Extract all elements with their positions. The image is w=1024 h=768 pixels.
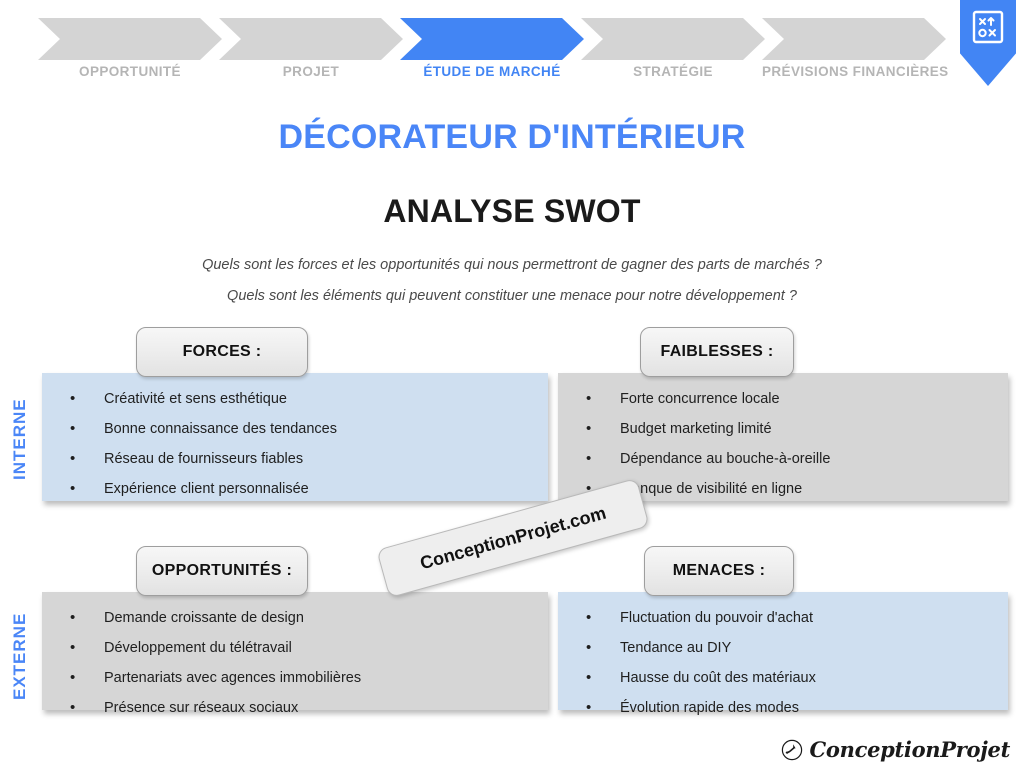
quadrant-opportunites: Demande croissante de design Développeme… [42,592,548,710]
process-step-projet[interactable]: PROJET [219,18,403,60]
footer-brand: ConceptionProjet [781,737,1011,762]
quadrant-forces: Créativité et sens esthétique Bonne conn… [42,373,548,501]
stage-pin-marker [960,0,1016,92]
process-step-label: ÉTUDE DE MARCHÉ [400,64,584,79]
process-step-label: PRÉVISIONS FINANCIÈRES [762,64,946,79]
guiding-question-2: Quels sont les éléments qui peuvent cons… [0,288,1024,304]
list-item: Dépendance au bouche-à-oreille [558,449,1008,470]
list-item: Développement du télétravail [42,638,548,659]
page-title: DÉCORATEUR D'INTÉRIEUR [0,118,1024,157]
process-step-label: OPPORTUNITÉ [38,64,222,79]
list-item: Fluctuation du pouvoir d'achat [558,608,1008,629]
quadrant-menaces: Fluctuation du pouvoir d'achat Tendance … [558,592,1008,710]
axis-label-interne: INTERNE [10,383,30,495]
guiding-question-1: Quels sont les forces et les opportunité… [0,257,1024,273]
list-item: Réseau de fournisseurs fiables [42,449,548,470]
list-item: Évolution rapide des modes [558,698,1008,719]
process-step-label: STRATÉGIE [581,64,765,79]
list-item: Présence sur réseaux sociaux [42,698,548,719]
list-item: Tendance au DIY [558,638,1008,659]
list-item: Forte concurrence locale [558,389,1008,410]
list-item: Expérience client personnalisée [42,479,548,500]
chevron-shape [400,18,584,60]
conceptionprojet-logo-icon [781,739,803,761]
process-step-etude-de-marche[interactable]: ÉTUDE DE MARCHÉ [400,18,584,60]
process-step-bar: OPPORTUNITÉ PROJET ÉTUDE DE MARCHÉ STRAT… [0,0,1024,100]
quadrant-label-menaces: MENACES : [644,546,794,596]
list-item: Partenariats avec agences immobilières [42,668,548,689]
axis-label-externe: EXTERNE [10,600,30,712]
list-item: Bonne connaissance des tendances [42,419,548,440]
list-item: Créativité et sens esthétique [42,389,548,410]
chevron-shape [581,18,765,60]
process-step-strategie[interactable]: STRATÉGIE [581,18,765,60]
footer-brand-text: ConceptionProjet [810,737,1011,762]
chevron-shape [38,18,222,60]
process-step-label: PROJET [219,64,403,79]
chevron-shape [762,18,946,60]
strategy-playbook-icon [972,10,1004,44]
list-item: Hausse du coût des matériaux [558,668,1008,689]
list-item: Demande croissante de design [42,608,548,629]
quadrant-opportunites-list: Demande croissante de design Développeme… [42,592,548,719]
quadrant-label-opportunites: OPPORTUNITÉS : [136,546,308,596]
quadrant-label-faiblesses: FAIBLESSES : [640,327,794,377]
quadrant-menaces-list: Fluctuation du pouvoir d'achat Tendance … [558,592,1008,719]
process-step-previsions-financieres[interactable]: PRÉVISIONS FINANCIÈRES [762,18,946,60]
quadrant-label-forces: FORCES : [136,327,308,377]
list-item: Budget marketing limité [558,419,1008,440]
swot-title: ANALYSE SWOT [0,193,1024,230]
process-step-opportunite[interactable]: OPPORTUNITÉ [38,18,222,60]
chevron-shape [219,18,403,60]
quadrant-forces-list: Créativité et sens esthétique Bonne conn… [42,373,548,500]
